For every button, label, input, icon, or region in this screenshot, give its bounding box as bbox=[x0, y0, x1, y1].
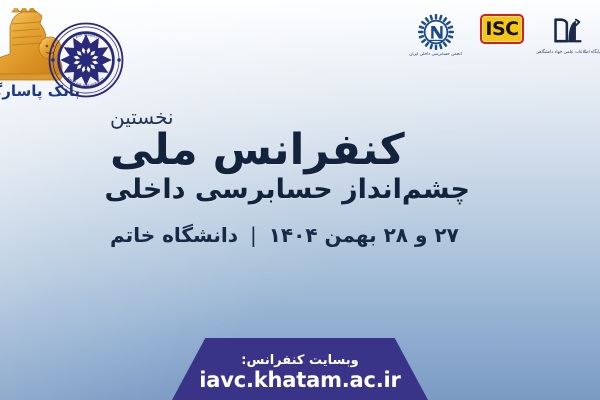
date-venue-line: ۲۷ و ۲۸ بهمن ۱۴۰۴ | دانشگاه خاتم bbox=[110, 222, 470, 248]
gear-badge-caption: انجمن حسابرسی داخلی ایران bbox=[410, 52, 463, 58]
headline-block: نخستین کنفرانس ملی چشم‌انداز حسابرسی داخ… bbox=[110, 105, 470, 248]
website-url-link[interactable]: iavc.khatam.ac.ir bbox=[199, 369, 400, 392]
sponsor-badge-row: انجمن حسابرسی داخلی ایران ISC پایگاه اطل… bbox=[410, 14, 594, 58]
isc-label: ISC bbox=[485, 20, 518, 39]
open-book-icon bbox=[551, 14, 585, 48]
website-label: وبسایت کنفرانس: bbox=[241, 354, 358, 368]
sponsor-badge-book: پایگاه اطلاعات علمی جهاد دانشگاهی bbox=[542, 14, 594, 56]
sponsor-badge-isc: ISC bbox=[476, 14, 528, 46]
conference-venue: دانشگاه خاتم bbox=[110, 223, 238, 247]
conference-date: ۲۷ و ۲۸ بهمن ۱۴۰۴ bbox=[269, 223, 459, 247]
main-title: کنفرانس ملی bbox=[110, 128, 470, 173]
date-venue-separator: | bbox=[245, 223, 262, 247]
isc-box-icon: ISC bbox=[480, 14, 524, 44]
sub-title: چشم‌انداز حسابرسی داخلی bbox=[110, 174, 470, 206]
website-banner[interactable]: وبسایت کنفرانس: iavc.khatam.ac.ir bbox=[172, 338, 428, 400]
book-badge-caption: پایگاه اطلاعات علمی جهاد دانشگاهی bbox=[536, 50, 600, 56]
sponsor-badge-gear: انجمن حسابرسی داخلی ایران bbox=[410, 14, 462, 58]
website-banner-content: وبسایت کنفرانس: iavc.khatam.ac.ir bbox=[172, 338, 428, 400]
khatam-university-seal-icon: دانشگاه خاتم KHATAM UNIVERSITY bbox=[48, 20, 124, 100]
gear-circle-icon bbox=[418, 14, 454, 50]
conference-poster: بانک پاسارگاد ® bbox=[0, 0, 600, 400]
